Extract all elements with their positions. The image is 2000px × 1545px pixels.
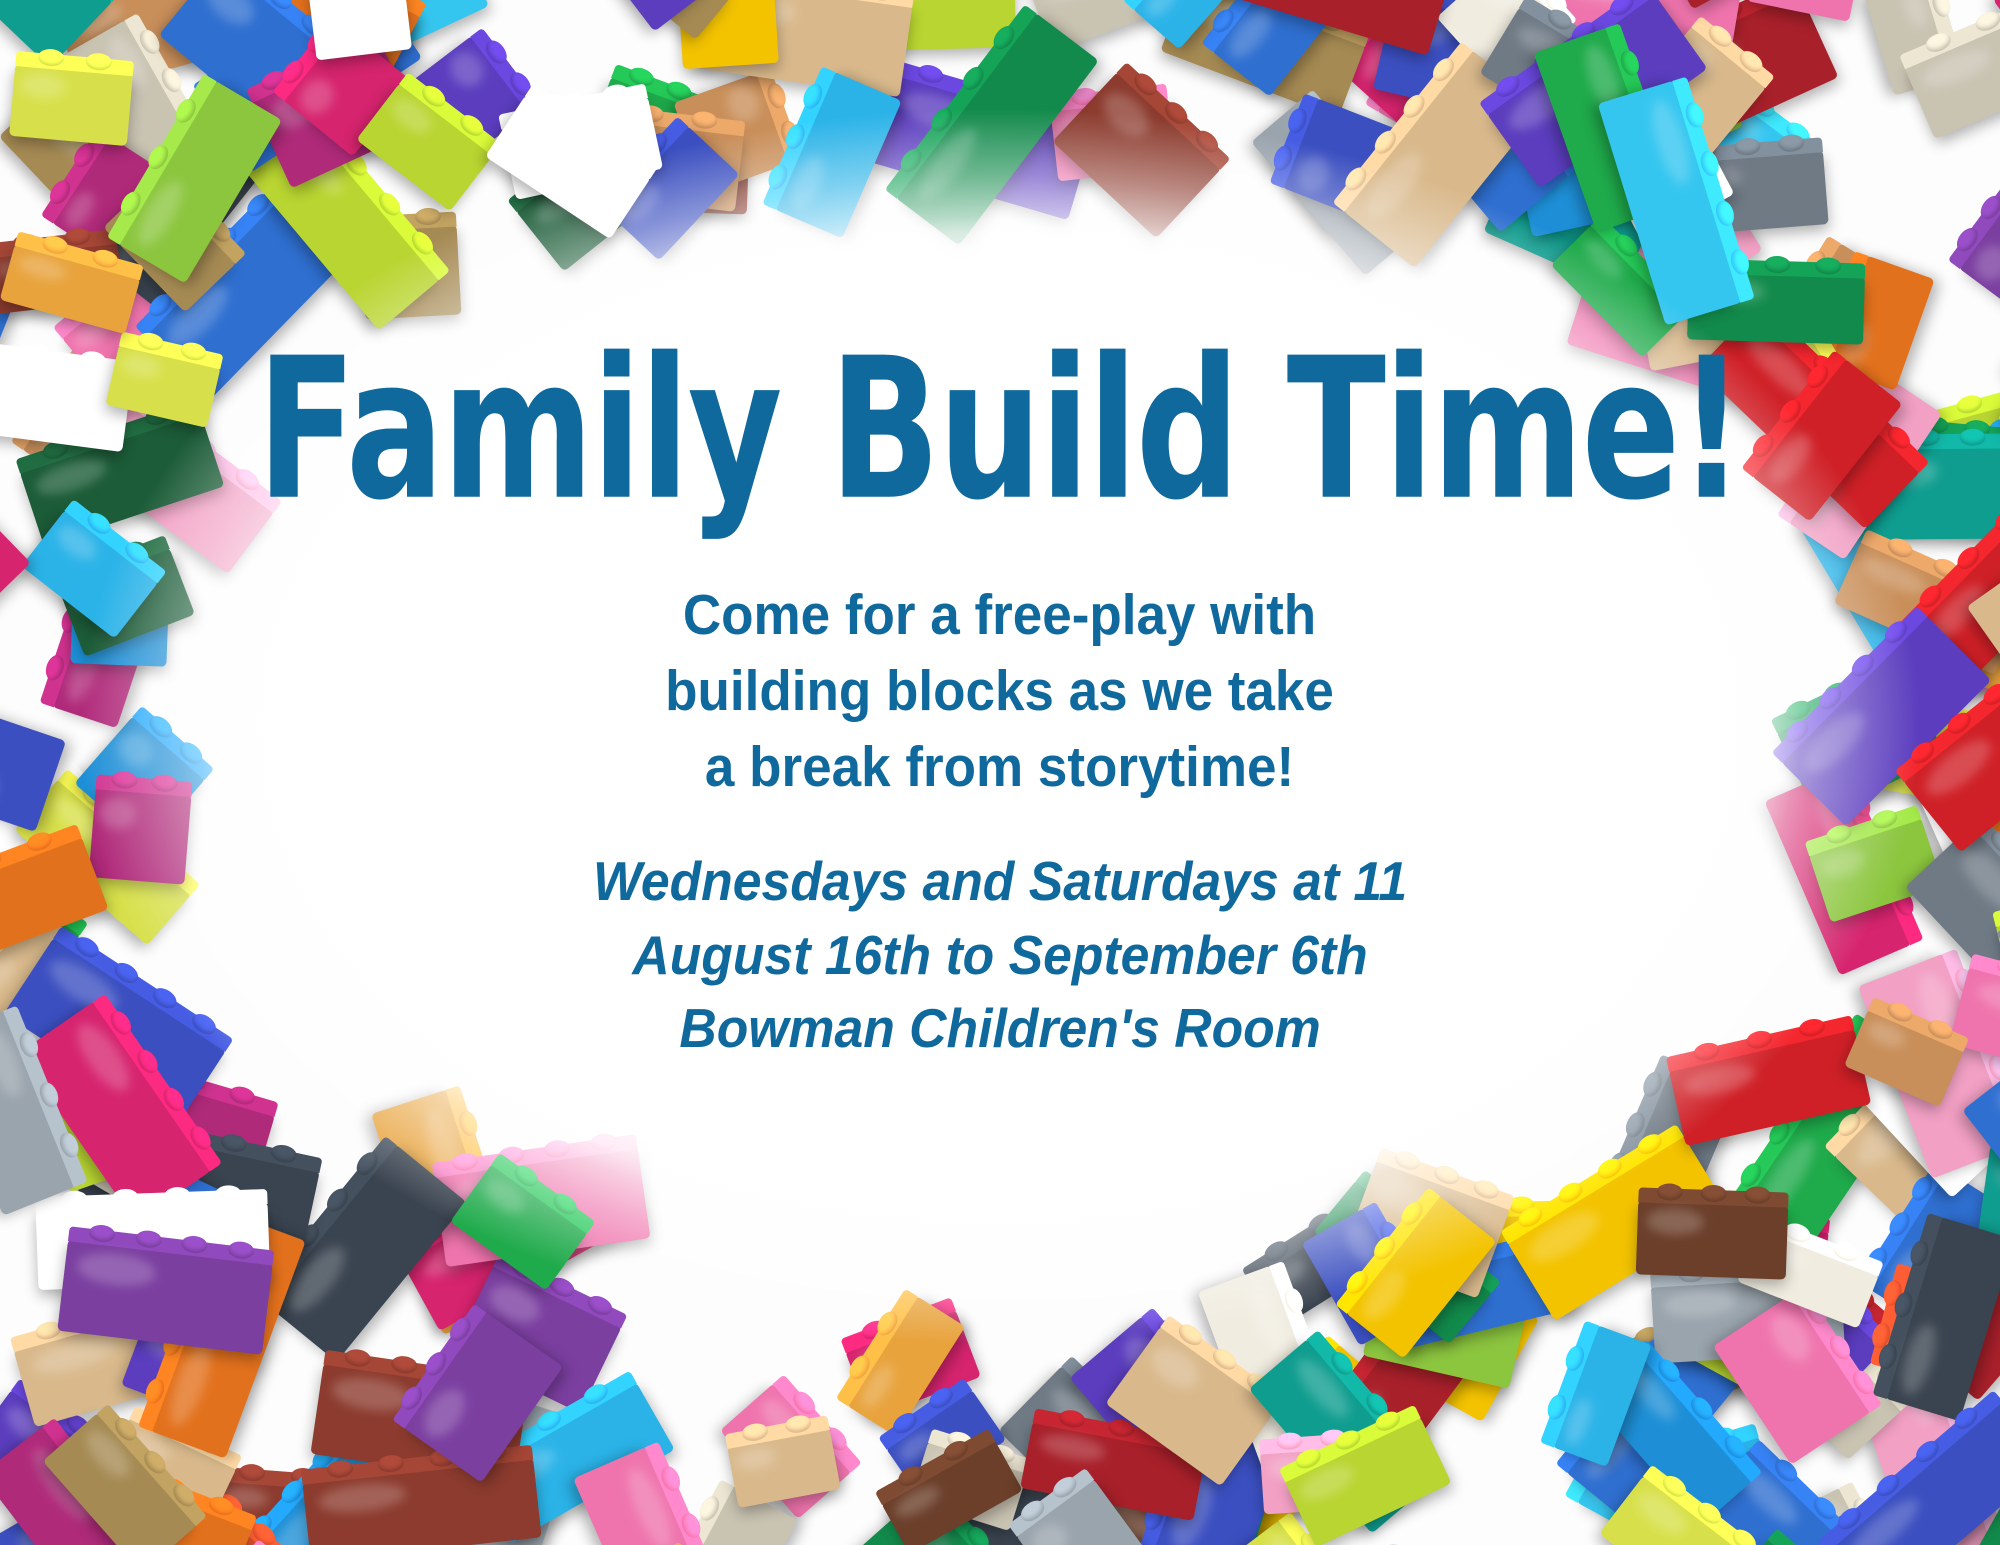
description-block: Come for a free-play with building block…: [666, 578, 1335, 805]
location: Bowman Children's Room: [593, 992, 1407, 1065]
description-line-2: building blocks as we take: [666, 654, 1335, 730]
flyer-content: Family Build Time! Come for a free-play …: [0, 0, 2000, 1545]
description-line-3: a break from storytime!: [666, 730, 1335, 806]
page-title: Family Build Time!: [257, 333, 1743, 528]
schedule-date-range: August 16th to September 6th: [593, 919, 1407, 992]
schedule-details-block: Wednesdays and Saturdays at 11 August 16…: [593, 845, 1407, 1064]
description-line-1: Come for a free-play with: [666, 578, 1335, 654]
schedule-days-time: Wednesdays and Saturdays at 11: [593, 845, 1407, 918]
flyer-canvas: Family Build Time! Come for a free-play …: [0, 0, 2000, 1545]
